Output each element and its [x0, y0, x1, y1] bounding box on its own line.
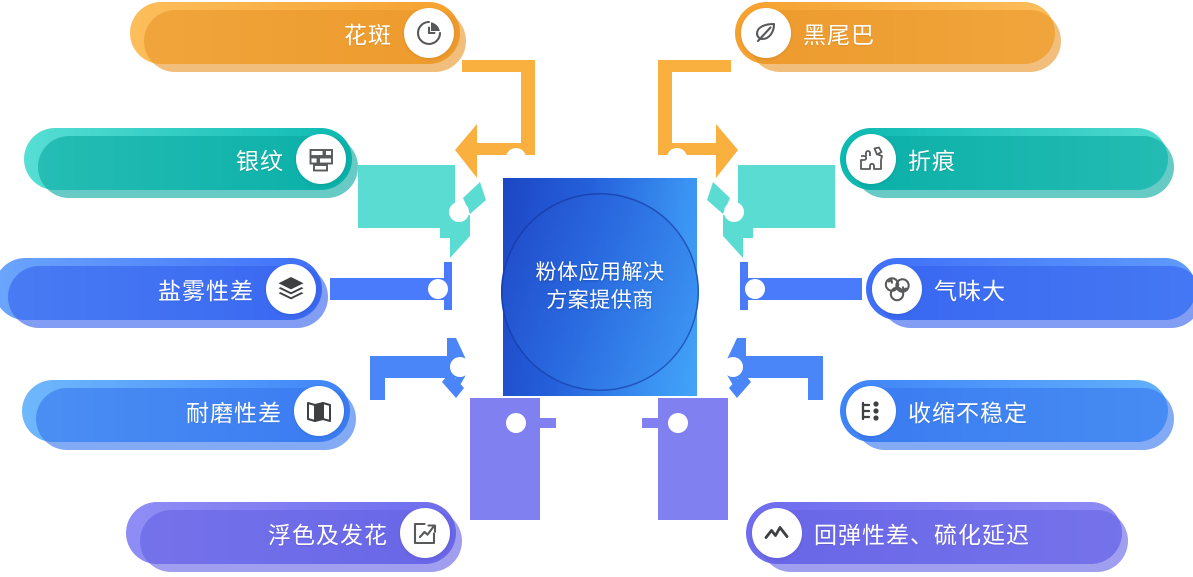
- brick-wall-icon: [296, 134, 346, 184]
- connector-huaban: [455, 60, 535, 178]
- branch-label-naimo: 耐磨性差: [186, 394, 282, 428]
- diagram-canvas: 粉体应用解决 方案提供商 花斑 黑尾巴 银纹: [0, 0, 1193, 577]
- pill-shadow: [749, 10, 1061, 72]
- branch-label-huaban: 花斑: [344, 16, 392, 50]
- connector-yinwen: [358, 165, 486, 258]
- chart-arrow-icon: [400, 508, 450, 558]
- pill-shadow: [880, 266, 1193, 328]
- center-label: 粉体应用解决 方案提供商: [503, 178, 697, 396]
- branch-label-heiweiba: 黑尾巴: [803, 16, 875, 50]
- branch-item-naimo[interactable]: 耐磨性差: [22, 380, 350, 442]
- branch-label-qiweida: 气味大: [934, 272, 1006, 306]
- leaf-icon: [741, 8, 791, 58]
- branch-label-zhehen: 折痕: [908, 142, 956, 176]
- pie-chart-icon: [404, 8, 454, 58]
- line-chart-icon: [752, 508, 802, 558]
- branch-label-yanwu: 盐雾性差: [158, 272, 254, 306]
- center-node: 粉体应用解决 方案提供商: [503, 178, 697, 396]
- connector-huitan: [642, 398, 728, 520]
- connector-heiweiba: [658, 60, 738, 178]
- open-book-icon: [294, 386, 344, 436]
- branch-item-yanwu[interactable]: 盐雾性差: [0, 258, 322, 320]
- branch-item-heiweiba[interactable]: 黑尾巴: [735, 2, 1055, 64]
- pill-shadow: [854, 136, 1174, 198]
- connector-yanwu: [330, 262, 452, 310]
- recycle-icon: [872, 264, 922, 314]
- puzzle-icon: [846, 134, 896, 184]
- connector-qiweida: [740, 262, 862, 310]
- connector-naimo: [370, 338, 470, 400]
- branch-item-huitan[interactable]: 回弹性差、硫化延迟: [746, 502, 1122, 564]
- connector-fuse: [470, 398, 556, 520]
- layers-icon: [266, 264, 316, 314]
- branch-label-fuse: 浮色及发花: [268, 516, 388, 550]
- connector-shousuo: [723, 338, 823, 400]
- branch-item-huaban[interactable]: 花斑: [130, 2, 460, 64]
- branch-label-huitan: 回弹性差、硫化延迟: [814, 516, 1030, 550]
- branch-item-qiweida[interactable]: 气味大: [866, 258, 1193, 320]
- branch-item-zhehen[interactable]: 折痕: [840, 128, 1168, 190]
- branch-item-shousuo[interactable]: 收缩不稳定: [840, 380, 1168, 442]
- node-tree-icon: [846, 386, 896, 436]
- branch-label-shousuo: 收缩不稳定: [908, 394, 1028, 428]
- branch-item-yinwen[interactable]: 银纹: [24, 128, 352, 190]
- branch-label-yinwen: 银纹: [236, 142, 284, 176]
- branch-item-fuse[interactable]: 浮色及发花: [126, 502, 456, 564]
- connector-zhehen: [707, 165, 835, 258]
